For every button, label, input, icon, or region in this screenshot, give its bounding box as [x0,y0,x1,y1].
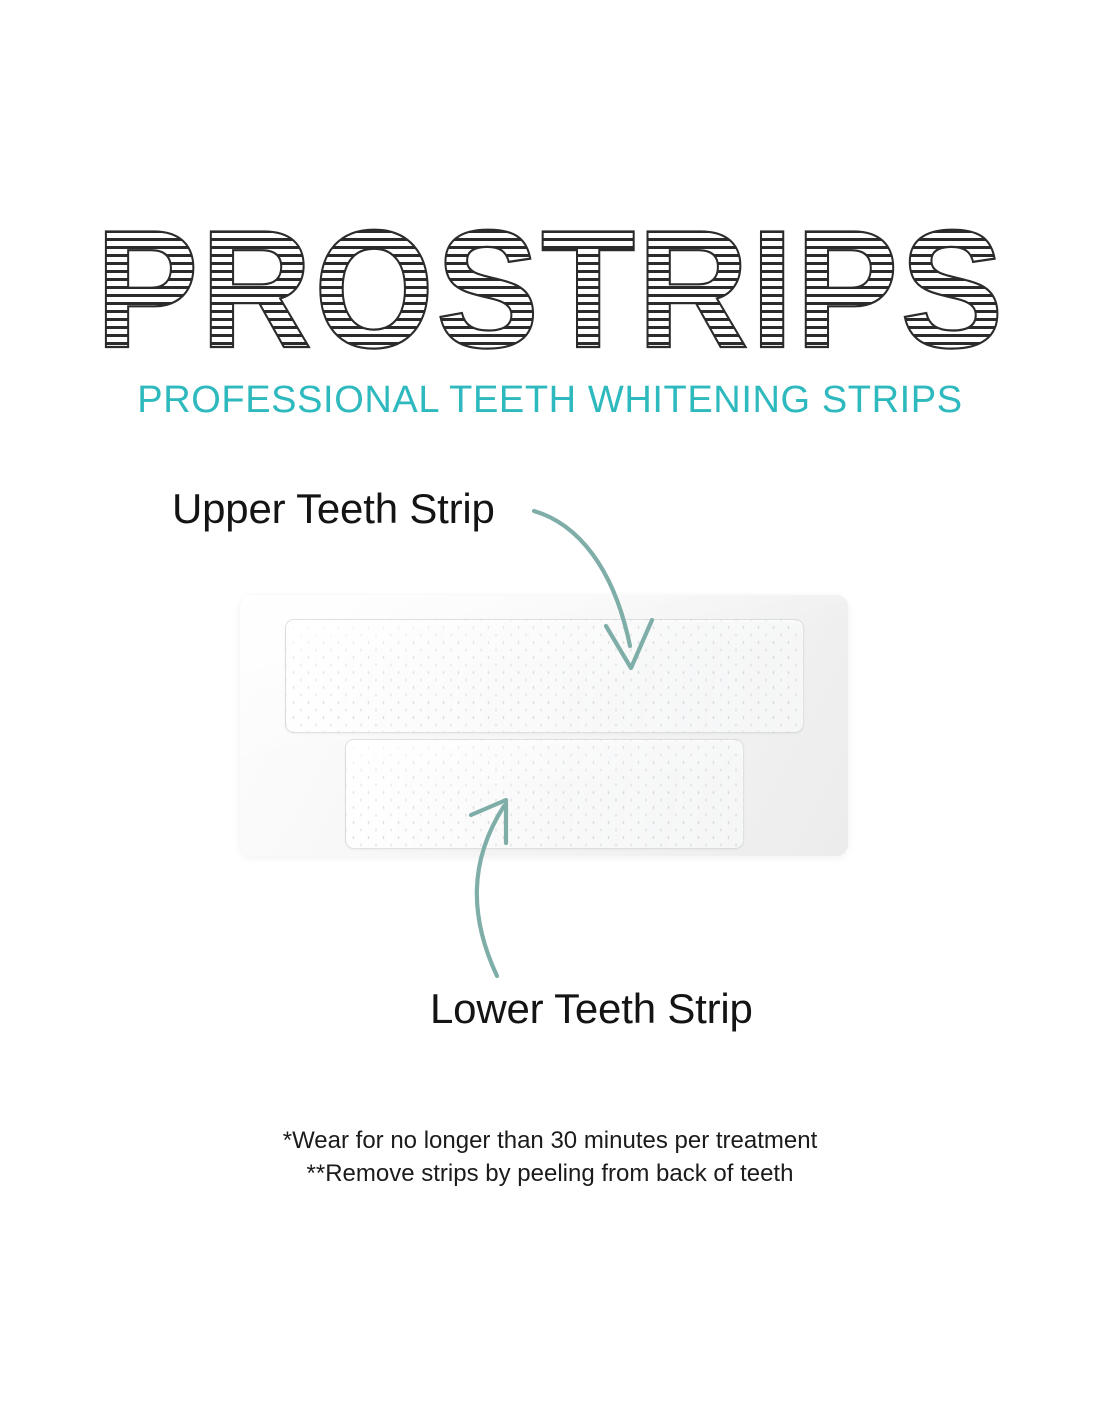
brand-logo: PROSTRIPS [0,214,1100,364]
upper-teeth-strip [285,619,804,733]
gel-dot-texture [286,620,803,732]
lower-teeth-strip [345,739,744,849]
footnote-removal: **Remove strips by peeling from back of … [0,1157,1100,1190]
product-info-graphic: PROSTRIPS PROSTRIPS PROFESSIONAL TEETH W… [0,0,1100,1422]
brand-tagline: PROFESSIONAL TEETH WHITENING STRIPS [0,378,1100,422]
product-image [240,595,848,856]
footnote-wear-time: *Wear for no longer than 30 minutes per … [0,1124,1100,1157]
brand-logo-text: PROSTRIPS [95,214,1005,364]
callout-label-upper-teeth-strip: Upper Teeth Strip [172,485,495,533]
footnotes: *Wear for no longer than 30 minutes per … [0,1124,1100,1190]
gel-dot-texture [346,740,743,848]
callout-label-lower-teeth-strip: Lower Teeth Strip [430,985,753,1033]
